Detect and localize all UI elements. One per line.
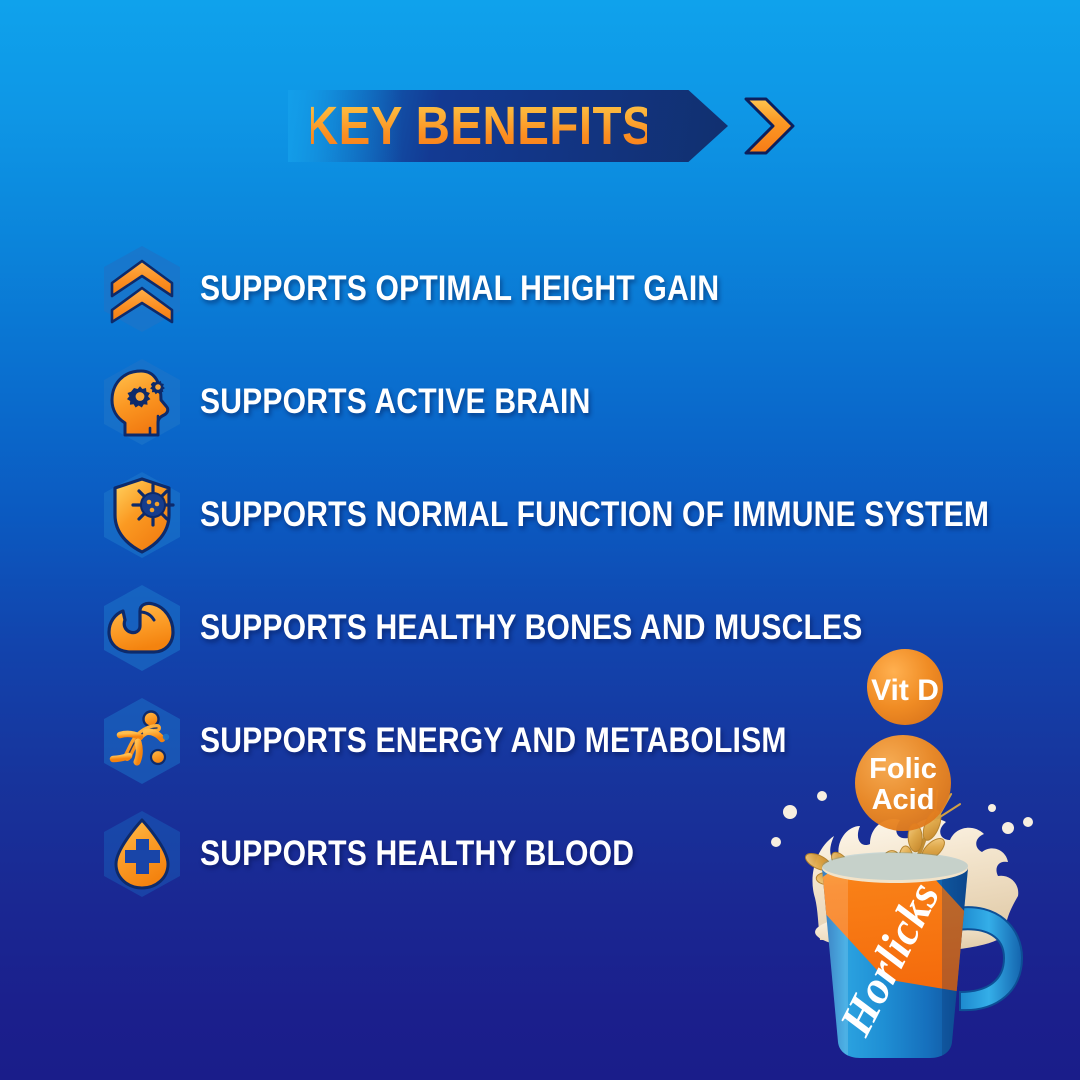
vit-d-badge: Vit D <box>867 649 943 725</box>
benefit-label: SUPPORTS NORMAL FUNCTION OF IMMUNE SYSTE… <box>200 497 989 532</box>
running-person-icon <box>96 695 188 787</box>
brain-head-gears-icon <box>96 356 188 448</box>
benefit-label: SUPPORTS ENERGY AND METABOLISM <box>200 723 787 758</box>
folic-acid-line1: Folic <box>869 753 937 785</box>
flexed-bicep-icon <box>96 582 188 674</box>
benefit-row: SUPPORTS ACTIVE BRAIN <box>0 345 1080 458</box>
shield-virus-icon <box>96 469 188 561</box>
page-title: KEY BENEFITS <box>311 90 647 162</box>
vit-d-label: Vit D <box>871 674 939 707</box>
folic-acid-badge: Folic Acid <box>855 735 951 831</box>
folic-acid-line2: Acid <box>872 784 935 816</box>
blood-drop-cross-icon <box>96 808 188 900</box>
benefit-label: SUPPORTS OPTIMAL HEIGHT GAIN <box>200 271 719 306</box>
key-benefits-banner: KEY BENEFITS <box>288 90 728 162</box>
chevron-right-icon <box>740 96 802 156</box>
benefit-label: SUPPORTS ACTIVE BRAIN <box>200 384 590 419</box>
benefit-row: SUPPORTS NORMAL FUNCTION OF IMMUNE SYSTE… <box>0 458 1080 571</box>
benefit-label: SUPPORTS HEALTHY BLOOD <box>200 836 634 871</box>
double-chevron-up-icon <box>96 243 188 335</box>
key-benefits-poster: KEY BENEFITS <box>0 0 1080 1080</box>
product-visual: Folic Acid Vit D Horlicks <box>760 640 1080 1080</box>
benefit-row: SUPPORTS OPTIMAL HEIGHT GAIN <box>0 232 1080 345</box>
